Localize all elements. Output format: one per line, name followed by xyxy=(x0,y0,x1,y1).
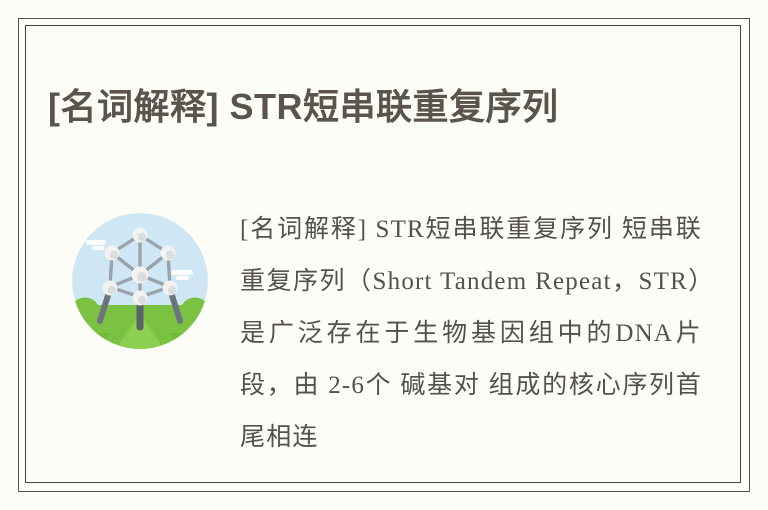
article-card: [名词解释] STR短串联重复序列 xyxy=(18,18,750,492)
atomium-monument-icon xyxy=(72,213,208,349)
page-title: [名词解释] STR短串联重复序列 xyxy=(48,84,708,130)
article-body: [名词解释] STR短串联重复序列 短串联重复序列（Short Tandem R… xyxy=(48,204,720,474)
atomium-monument-illustration xyxy=(72,213,208,349)
article-body-text: [名词解释] STR短串联重复序列 短串联重复序列（Short Tandem R… xyxy=(240,204,702,464)
